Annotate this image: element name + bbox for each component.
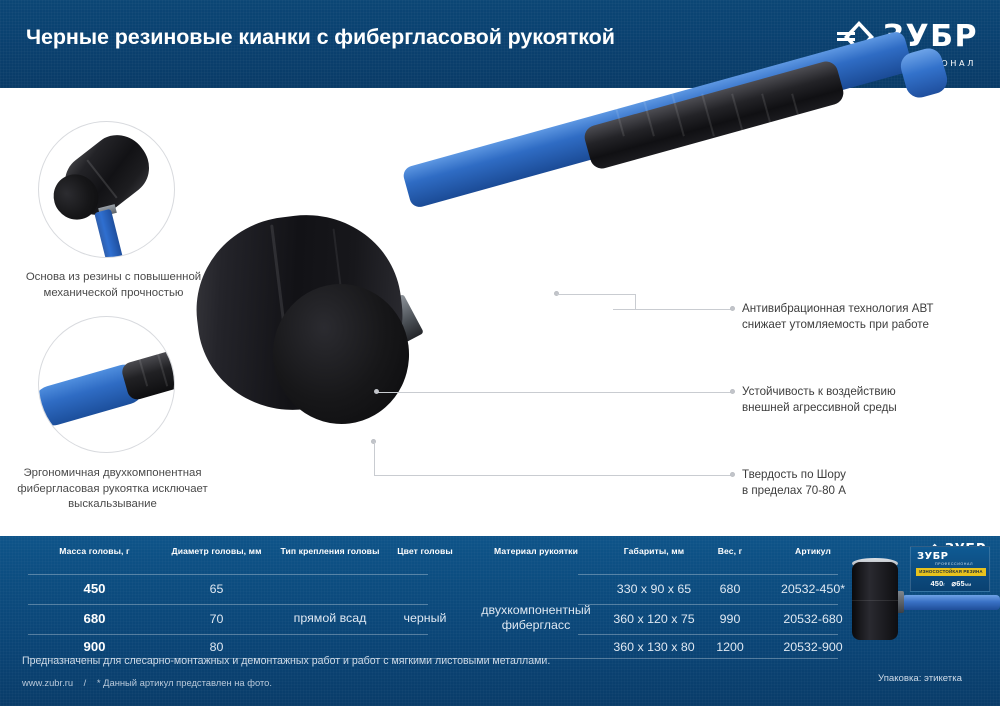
page-title: Черные резиновые кианки с фибергласовой … [26, 25, 615, 50]
product-showcase: Основа из резины с повышенной механическ… [0, 88, 1000, 536]
label-spec-mass-unit: г [943, 582, 945, 587]
table-divider [578, 634, 838, 635]
mallet-handle-shape [94, 209, 125, 258]
table-divider [578, 604, 838, 605]
thumb-head-seam [852, 600, 898, 601]
callout-text-chemical-resistance: Устойчивость к воздействию внешней агрес… [742, 384, 897, 415]
table-cell-mass: 450 [32, 581, 157, 596]
leader-dot [730, 306, 735, 311]
table-cell-handle-material: двухкомпонентный фибергласс [460, 603, 612, 633]
handle-grip-section [120, 334, 175, 401]
table-cell-mass: 680 [32, 611, 157, 626]
callout-image-rubber-base [38, 121, 175, 258]
table-cell-diameter: 65 [144, 582, 289, 597]
leader-segment [557, 294, 635, 295]
label-spec-diameter: ⌀65 [948, 579, 965, 588]
footer-note-row: www.zubr.ru / * Данный артикул представл… [22, 677, 272, 688]
table-header-row: Масса головы, г Диаметр головы, мм Тип к… [18, 546, 838, 572]
table-divider [28, 604, 428, 605]
label-spec-text: 450г ⌀65мм [916, 579, 986, 588]
footer-purpose-text: Предназначены для слесарно-монтажных и д… [22, 655, 550, 667]
leader-segment [635, 294, 636, 309]
callout-text-anti-vibration: Антивибрационная технология АВТ снижает … [742, 301, 934, 332]
label-spec-diameter-unit: мм [965, 582, 972, 587]
footer-website-link[interactable]: www.zubr.ru [22, 677, 73, 688]
table-divider [578, 574, 838, 575]
callout-text-shore-hardness: Твердость по Шору в пределах 70-80 А [742, 467, 846, 498]
label-band-text: ИЗНОСОСТОЙКАЯ РЕЗИНА [916, 568, 986, 576]
leader-segment [374, 475, 731, 476]
footer-separator: / [76, 677, 95, 688]
leader-segment [613, 309, 731, 310]
leader-segment [377, 392, 731, 393]
packaging-thumbnail: ЗУБР ПРОФЕССИОНАЛ ИЗНОСОСТОЙКАЯ РЕЗИНА 4… [840, 544, 1000, 668]
thumb-handle [902, 595, 1000, 610]
label-spec-mass: 450 [930, 579, 943, 588]
packaging-label: ЗУБР ПРОФЕССИОНАЛ ИЗНОСОСТОЙКАЯ РЕЗИНА 4… [910, 546, 990, 592]
packaging-caption: Упаковка: этикетка [845, 673, 995, 684]
leader-dot [730, 389, 735, 394]
table-header-mass: Масса головы, г [32, 546, 157, 556]
thumb-head [852, 562, 898, 640]
leader-segment [374, 442, 375, 475]
table-divider [28, 634, 428, 635]
footer-article-note: * Данный артикул представлен на фото. [97, 677, 272, 688]
specs-panel: ЗУБР ПРОФЕССИОНАЛ Масса головы, г Диамет… [0, 536, 1000, 706]
table-cell-mass: 900 [32, 639, 157, 654]
callout-image-ergonomic-handle [38, 316, 175, 453]
table-cell-diameter: 80 [144, 640, 289, 655]
label-brand-tagline: ПРОФЕССИОНАЛ [935, 562, 973, 566]
infographic-page: Черные резиновые кианки с фибергласовой … [0, 0, 1000, 706]
label-brand-name: ЗУБР [917, 551, 948, 562]
table-divider [28, 574, 428, 575]
specs-table: Масса головы, г Диаметр головы, мм Тип к… [18, 546, 838, 572]
leader-dot [730, 472, 735, 477]
